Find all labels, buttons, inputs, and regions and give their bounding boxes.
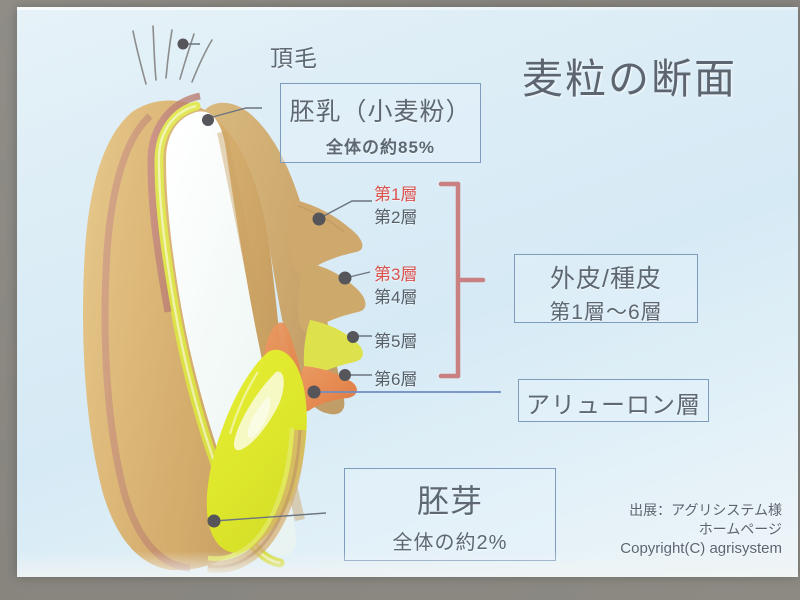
endosperm-note: 全体の約85% xyxy=(281,133,480,158)
bran-outer-body xyxy=(83,100,284,570)
germ-highlight-2 xyxy=(248,396,270,438)
pericarp-line-upper xyxy=(151,96,200,312)
projector-screen: 麦粒の断面 頂毛 胚乳（小麦粉） 全体の約85% 外皮/種皮 第1層〜6層 アリ… xyxy=(0,0,800,600)
label-box-bran: 外皮/種皮 第1層〜6層 xyxy=(514,254,698,323)
layer-label-1: 第1層 xyxy=(374,180,417,205)
germ-highlight-3 xyxy=(230,372,258,434)
source-credit: 出展：アグリシステム様 ホームページ Copyright(C) agrisyst… xyxy=(620,501,782,559)
label-box-germ: 胚芽 全体の約2% xyxy=(344,468,556,561)
layer-label-3: 第3層 xyxy=(374,260,417,285)
bran-inner-right-edge xyxy=(222,132,300,520)
seed-coat-line-left xyxy=(105,116,190,568)
bran-flap-1-shade xyxy=(298,206,344,232)
slide-canvas: 麦粒の断面 頂毛 胚乳（小麦粉） 全体の約85% 外皮/種皮 第1層〜6層 アリ… xyxy=(17,7,798,577)
endosperm-name: 胚乳（小麦粉） xyxy=(281,92,480,128)
credit-line-3: Copyright(C) agrisystem xyxy=(620,539,782,559)
label-box-aleurone: アリューロン層 xyxy=(518,379,709,422)
bran-lower-rim-shade xyxy=(208,430,300,567)
bran-note: 第1層〜6層 xyxy=(515,296,697,326)
germ-note: 全体の約2% xyxy=(345,526,555,555)
bran-flap-layer-3-4 xyxy=(298,262,365,332)
credit-line-2: ホームページ xyxy=(620,520,782,539)
germ-region xyxy=(207,350,307,553)
layer-label-5: 第5層 xyxy=(374,327,417,352)
aleurone-highlight xyxy=(159,106,280,563)
aleurone-lower-rim xyxy=(208,428,292,559)
label-box-endosperm: 胚乳（小麦粉） 全体の約85% xyxy=(280,83,481,163)
brush-hairs xyxy=(133,26,212,84)
aleurone-flap-layer-5 xyxy=(304,320,363,377)
layer-label-4: 第4層 xyxy=(374,283,417,308)
page-title: 麦粒の断面 xyxy=(522,45,737,105)
credit-line-1: 出展：アグリシステム様 xyxy=(620,501,782,520)
pericarp-flap-layer-6 xyxy=(298,366,357,411)
layer-label-2: 第2層 xyxy=(374,203,417,228)
germ-name: 胚芽 xyxy=(345,476,555,522)
aleurone-name: アリューロン層 xyxy=(519,385,708,420)
bran-lower-rim xyxy=(208,430,300,567)
bran-name: 外皮/種皮 xyxy=(515,259,697,295)
bran-flap-layer-1-2 xyxy=(290,200,362,274)
germ-highlight-1 xyxy=(234,372,284,451)
layer-range-bracket xyxy=(441,184,483,376)
aleurone-layer-line xyxy=(159,106,280,563)
pericarp-wedge xyxy=(263,323,306,423)
endosperm-region xyxy=(166,111,296,556)
label-brush-hair: 頂毛 xyxy=(270,39,318,73)
layer-label-6: 第6層 xyxy=(374,365,417,390)
